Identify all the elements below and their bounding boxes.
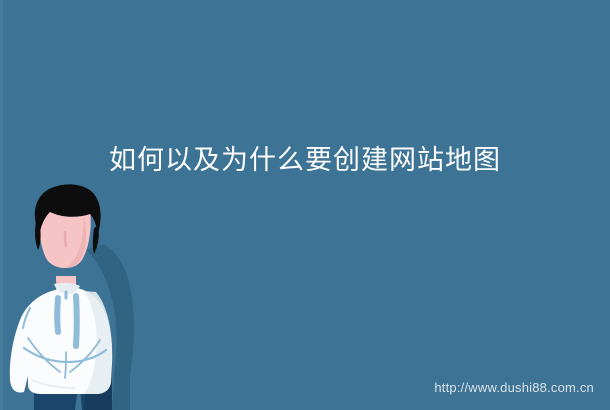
- article-cover-banner: 如何以及为什么要创建网站地图 http://www.dushi88.com.cn: [0, 0, 610, 410]
- page-title: 如何以及为什么要创建网站地图: [0, 140, 610, 180]
- person-in-white-hoodie-illustration: [0, 180, 160, 410]
- site-url-watermark: http://www.dushi88.com.cn: [434, 380, 594, 396]
